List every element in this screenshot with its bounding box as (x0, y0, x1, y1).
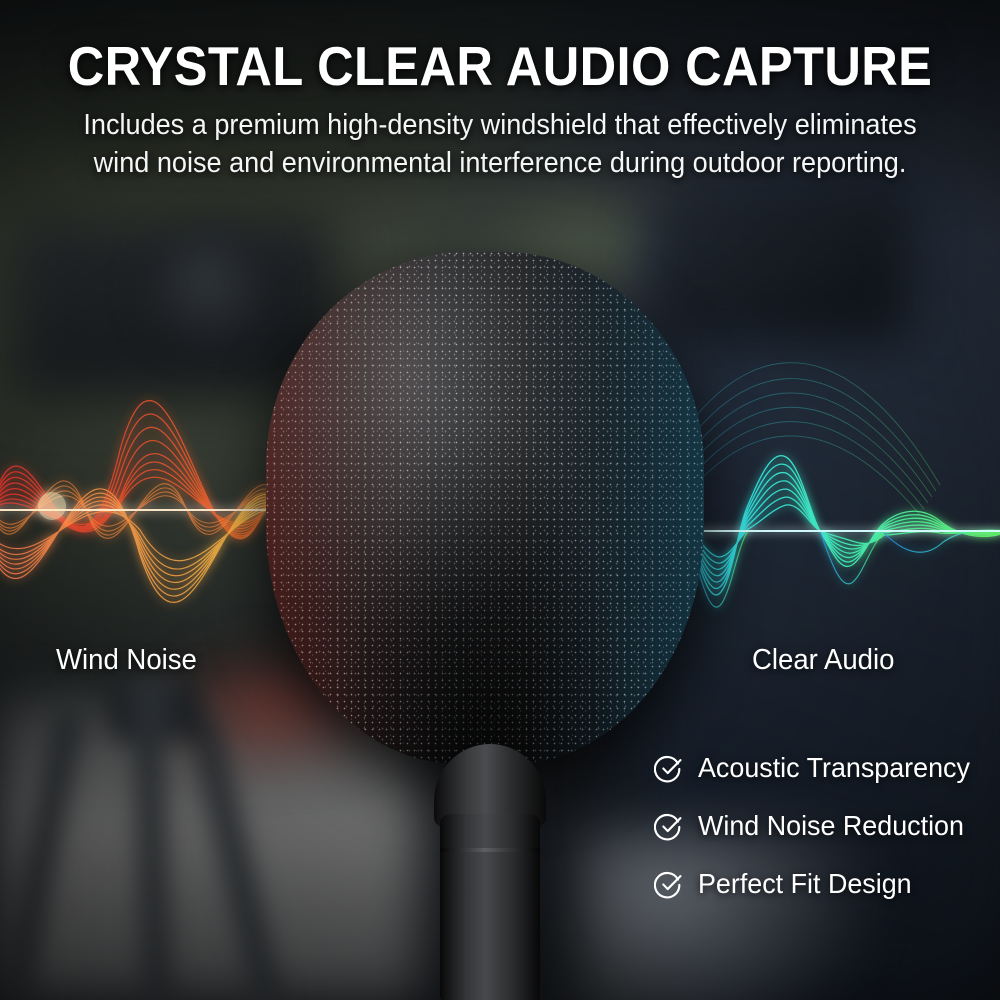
list-item: Acoustic Transparency (654, 752, 981, 784)
check-circle-icon (654, 753, 684, 783)
wind-noise-label: Wind Noise (56, 644, 197, 677)
clear-audio-waveform (480, 345, 1000, 685)
header: CRYSTAL CLEAR AUDIO CAPTURE Includes a p… (0, 0, 1000, 182)
list-item: Perfect Fit Design (654, 868, 981, 900)
product-feature-banner: CRYSTAL CLEAR AUDIO CAPTURE Includes a p… (0, 0, 1000, 1000)
check-circle-icon (654, 811, 684, 841)
feature-list: Acoustic Transparency Wind Noise Reducti… (654, 752, 981, 900)
list-item: Wind Noise Reduction (654, 810, 981, 842)
check-circle-icon (654, 869, 684, 899)
page-title: CRYSTAL CLEAR AUDIO CAPTURE (40, 0, 960, 94)
clear-audio-label: Clear Audio (752, 644, 894, 677)
page-subtitle: Includes a premium high-density windshie… (82, 106, 918, 182)
list-item-label: Acoustic Transparency (698, 752, 970, 784)
list-item-label: Wind Noise Reduction (698, 810, 964, 842)
list-item-label: Perfect Fit Design (698, 868, 912, 900)
